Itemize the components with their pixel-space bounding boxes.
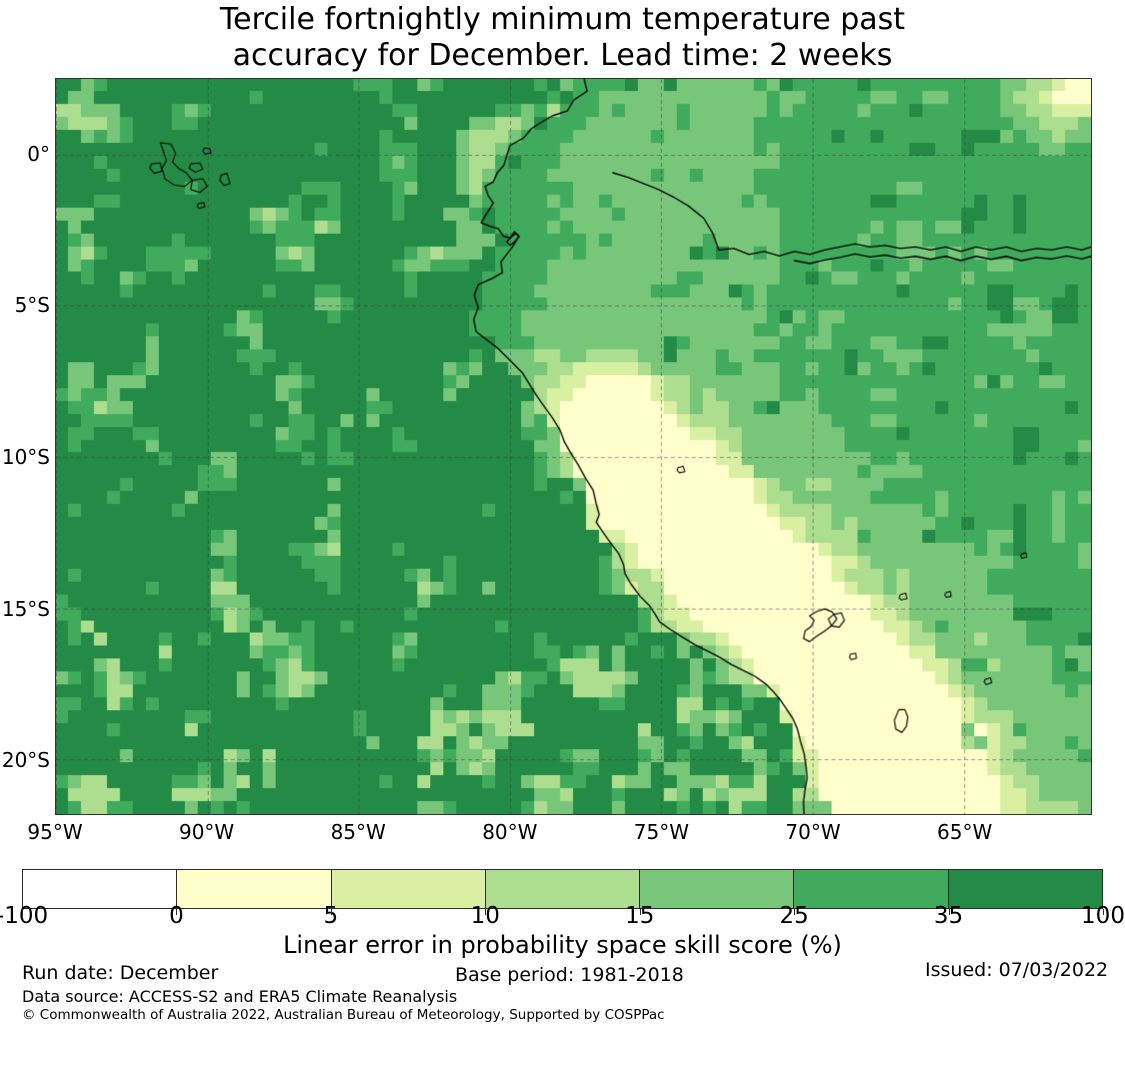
title-line-1: Tercile fortnightly minimum temperature … — [0, 2, 1125, 38]
y-tick-label: 15°S — [0, 599, 50, 619]
colorbar-tick-label: -100 — [0, 905, 48, 928]
colorbar-segment-2 — [331, 870, 485, 908]
colorbar-segment-4 — [639, 870, 793, 908]
colorbar-tick — [22, 909, 23, 915]
colorbar-tick — [1103, 909, 1104, 915]
colorbar-segment-6 — [948, 870, 1102, 908]
x-tick-label: 85°W — [331, 822, 386, 842]
colorbar-tick — [176, 909, 177, 915]
colorbar-tick — [794, 909, 795, 915]
colorbar-tick — [949, 909, 950, 915]
page-title: Tercile fortnightly minimum temperature … — [0, 2, 1125, 74]
y-tick-label: 10°S — [0, 447, 50, 467]
y-tick-label: 20°S — [0, 750, 50, 770]
colorbar-label: Linear error in probability space skill … — [0, 931, 1125, 959]
graticule-gridlines — [56, 79, 1091, 814]
colorbar-tick — [640, 909, 641, 915]
colorbar-segment-5 — [793, 870, 947, 908]
y-tick-label: 5°S — [0, 295, 50, 315]
footer-data-source: Data source: ACCESS-S2 and ERA5 Climate … — [22, 987, 457, 1006]
colorbar-segment-3 — [485, 870, 639, 908]
x-tick-label: 65°W — [937, 822, 992, 842]
x-tick-label: 90°W — [179, 822, 234, 842]
footer-run-date: Run date: December — [22, 962, 218, 984]
x-tick-label: 95°W — [27, 822, 82, 842]
map-plot-area — [55, 78, 1092, 815]
footer-issued-date: Issued: 07/03/2022 — [925, 959, 1108, 981]
footer-base-period: Base period: 1981-2018 — [455, 964, 684, 986]
x-tick-label: 70°W — [785, 822, 840, 842]
x-tick-label: 80°W — [482, 822, 537, 842]
colorbar-tick — [331, 909, 332, 915]
y-tick-label: 0° — [0, 144, 50, 164]
title-line-2: accuracy for December. Lead time: 2 week… — [0, 38, 1125, 74]
x-tick-label: 75°W — [634, 822, 689, 842]
colorbar-segment-1 — [176, 870, 330, 908]
footer-copyright: © Commonwealth of Australia 2022, Austra… — [22, 1007, 665, 1024]
colorbar-tick — [485, 909, 486, 915]
